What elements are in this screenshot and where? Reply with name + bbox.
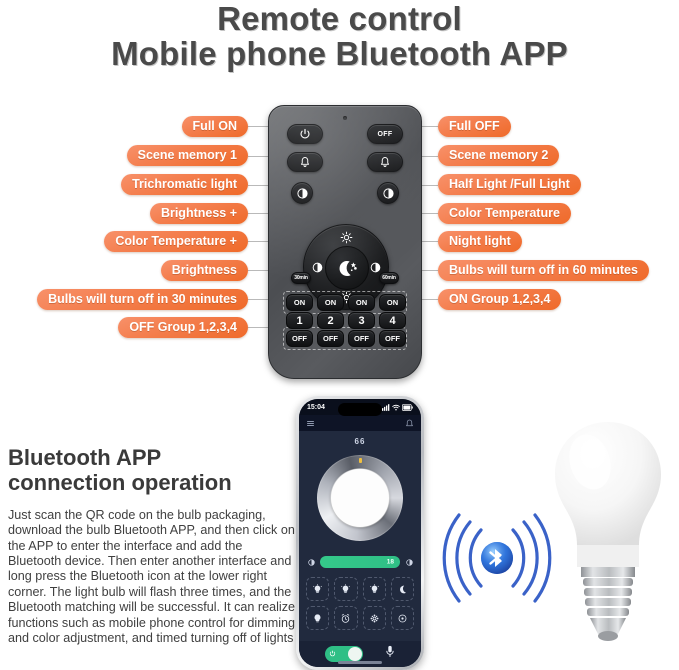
group-1-on-button[interactable]: ON (286, 294, 313, 311)
bluetooth-signal-graphic (437, 508, 557, 608)
callout-timer-30[interactable]: Bulbs will turn off in 30 minutes (37, 289, 248, 310)
moon-stars-icon (333, 254, 361, 282)
brightness-low-icon (306, 557, 316, 567)
bulb-icon (312, 584, 323, 595)
app-top-bar (299, 415, 421, 431)
bulb-icon (340, 584, 351, 595)
section-body-text: Just scan the QR code on the bulb packag… (8, 508, 296, 646)
half-circle-icon (296, 187, 309, 200)
color-temperature-down-button[interactable] (368, 260, 382, 274)
group-4-off-button[interactable]: OFF (379, 330, 406, 347)
scene-tile-color-wheel[interactable] (363, 606, 386, 630)
status-time: 15:04 (307, 404, 325, 411)
group-2-number: 2 (317, 312, 344, 329)
section-heading-line-1: Bluetooth APP (8, 446, 294, 471)
color-wheel-icon (369, 613, 380, 624)
scene-memory-2-button[interactable] (367, 152, 403, 172)
home-indicator (338, 661, 382, 664)
title-line-1: Remote control (0, 2, 679, 37)
led-bulb-graphic (540, 408, 676, 664)
status-icons (382, 404, 413, 411)
dynamic-island (338, 403, 382, 416)
sun-icon (340, 231, 353, 244)
phone-screen: 15:04 (299, 399, 421, 667)
callout-night-light[interactable]: Night light (438, 231, 522, 252)
brightness-high-icon (404, 557, 414, 567)
group-2-on-button[interactable]: ON (317, 294, 344, 311)
trichromatic-light-button[interactable] (291, 182, 313, 204)
half-circle-icon (369, 261, 382, 274)
microphone-icon (385, 645, 395, 658)
scene-tile-grid (306, 577, 414, 630)
half-circle-icon (382, 187, 395, 200)
scene-tile-timer[interactable] (334, 606, 357, 630)
timer-30min-label: 30min (294, 275, 307, 281)
group-3-on-button[interactable]: ON (348, 294, 375, 311)
bell-icon (379, 156, 391, 168)
scene-tile-music-sync[interactable] (391, 606, 414, 630)
bulb-icon (312, 613, 323, 624)
callout-off-group[interactable]: OFF Group 1,2,3,4 (118, 317, 248, 338)
callout-scene-memory-2[interactable]: Scene memory 2 (438, 145, 559, 166)
callout-color-temp-up[interactable]: Color Temperature + (104, 231, 248, 252)
group-4-on-button[interactable]: ON (379, 294, 406, 311)
ir-emitter-icon (343, 116, 347, 120)
infographic-canvas: Remote control Mobile phone Bluetooth AP… (0, 0, 679, 670)
power-icon (299, 128, 311, 140)
light-bulb-icon (540, 408, 676, 664)
color-temperature-up-button[interactable] (310, 260, 324, 274)
bluetooth-waves-icon (437, 508, 557, 608)
scene-tile-bulb-3[interactable] (363, 577, 386, 601)
page-title: Remote control Mobile phone Bluetooth AP… (0, 2, 679, 72)
brightness-up-button[interactable] (339, 230, 353, 244)
timer-60min-label: 60min (382, 275, 395, 281)
callout-half-full-light[interactable]: Half Light /Full Light (438, 174, 581, 195)
section-heading: Bluetooth APP connection operation (8, 446, 294, 495)
callout-scene-memory-1[interactable]: Scene memory 1 (127, 145, 248, 166)
full-off-button[interactable]: OFF (367, 124, 403, 144)
group-column-2: ON 2 OFF (317, 294, 342, 346)
music-sync-icon (397, 613, 408, 624)
power-toggle[interactable] (325, 646, 363, 662)
callout-trichromatic[interactable]: Trichromatic light (121, 174, 248, 195)
menu-icon[interactable] (306, 419, 315, 428)
dial-marker-icon (359, 458, 362, 463)
group-column-1: ON 1 OFF (286, 294, 311, 346)
callout-brightness[interactable]: Brightness (161, 260, 248, 281)
dial-inner-knob[interactable] (331, 469, 389, 527)
bell-icon (299, 156, 311, 168)
brightness-slider[interactable]: 18 (320, 556, 400, 568)
callout-timer-60[interactable]: Bulbs will turn off in 60 minutes (438, 260, 649, 281)
timer-30min-button[interactable]: 30min (291, 272, 311, 284)
dimmer-dial[interactable] (317, 455, 403, 541)
microphone-button[interactable] (385, 645, 395, 663)
wifi-icon (392, 404, 400, 411)
group-1-off-button[interactable]: OFF (286, 330, 313, 347)
callout-full-off[interactable]: Full OFF (438, 116, 511, 137)
callout-full-on[interactable]: Full ON (182, 116, 248, 137)
group-2-off-button[interactable]: OFF (317, 330, 344, 347)
callout-brightness-up[interactable]: Brightness + (150, 203, 248, 224)
title-line-2: Mobile phone Bluetooth APP (0, 37, 679, 72)
group-keypad: ON 1 OFF ON 2 OFF ON 3 OFF ON 4 OFF (286, 294, 404, 346)
signal-icon (382, 404, 390, 411)
section-heading-line-2: connection operation (8, 471, 294, 496)
timer-60min-button[interactable]: 60min (379, 272, 399, 284)
group-1-number: 1 (286, 312, 313, 329)
callout-on-group[interactable]: ON Group 1,2,3,4 (438, 289, 561, 310)
group-3-number: 3 (348, 312, 375, 329)
app-body: 66 18 (299, 431, 421, 667)
remote-control: OFF (268, 105, 422, 379)
half-circle-icon (311, 261, 324, 274)
scene-memory-1-button[interactable] (287, 152, 323, 172)
dim-value-readout: 66 (299, 437, 421, 446)
moon-icon (397, 584, 408, 595)
scene-tile-bulb-2[interactable] (334, 577, 357, 601)
group-3-off-button[interactable]: OFF (348, 330, 375, 347)
scene-tile-bulb-1[interactable] (306, 577, 329, 601)
bulb-icon (369, 584, 380, 595)
group-4-number: 4 (379, 312, 406, 329)
group-column-3: ON 3 OFF (348, 294, 373, 346)
smartphone-mockup: 15:04 (296, 396, 424, 670)
night-light-button[interactable] (325, 246, 369, 290)
alarm-clock-icon (340, 613, 351, 624)
brightness-slider-row: 18 (306, 555, 414, 569)
toggle-knob (348, 647, 362, 661)
scene-tile-bulb-solid[interactable] (306, 606, 329, 630)
slider-level-label: 18 (387, 559, 394, 566)
group-column-4: ON 4 OFF (379, 294, 404, 346)
power-toggle-icon (329, 650, 336, 659)
power-button[interactable] (287, 124, 323, 144)
half-full-light-button[interactable] (377, 182, 399, 204)
callout-color-temp[interactable]: Color Temperature (438, 203, 571, 224)
off-button-label: OFF (378, 131, 393, 138)
bell-icon[interactable] (405, 419, 414, 428)
battery-icon (402, 404, 413, 411)
scene-tile-night-mode[interactable] (391, 577, 414, 601)
